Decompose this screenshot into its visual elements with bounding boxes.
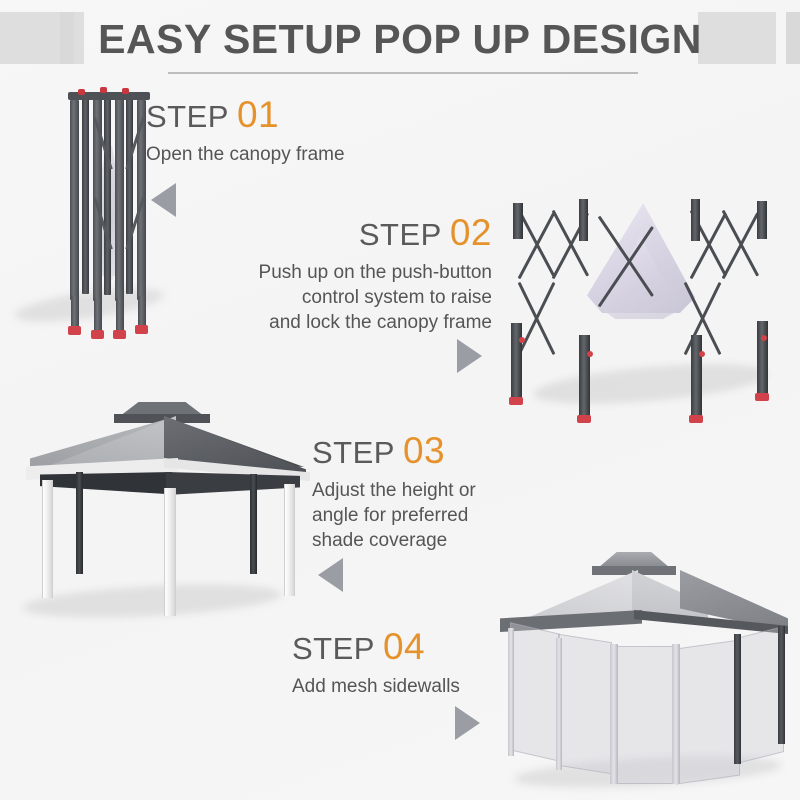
step-03-heading: STEP03 [312, 432, 552, 472]
frame-leg [511, 323, 522, 401]
step-03-number: 03 [403, 430, 445, 471]
step-04-heading: STEP04 [292, 628, 542, 668]
mesh-sidewall-panel [676, 640, 740, 785]
frame-pole [126, 96, 133, 294]
step-03-description: Adjust the height or angle for preferred… [312, 478, 552, 553]
page-title-container: EASY SETUP POP UP DESIGN [0, 16, 800, 62]
frame-hub [513, 203, 523, 239]
gazebo-leg-back-right [250, 474, 257, 574]
step-04-arrow-right-icon [455, 706, 480, 740]
title-underline [168, 72, 638, 74]
step-04-number: 04 [383, 626, 425, 667]
frame-leg [579, 335, 590, 420]
frame-hub [579, 199, 588, 241]
gazebo-post [556, 638, 562, 770]
canopy-underside-right [166, 472, 300, 504]
frame-pole [104, 95, 111, 295]
mesh-sidewall-panel [558, 634, 612, 775]
step-02-shadow [532, 357, 770, 411]
frame-foot [135, 325, 148, 334]
step-02-number: 02 [450, 212, 492, 253]
step-02-label: STEP [359, 217, 442, 252]
frame-foot [577, 415, 591, 423]
canopy-underside-left [40, 472, 172, 504]
step-03-shadow [21, 579, 282, 623]
step-01-label: STEP [146, 99, 229, 134]
step-02-description-line-2: control system to raise [210, 285, 492, 310]
frame-foot [755, 393, 769, 401]
step-04-description: Add mesh sidewalls [292, 674, 542, 699]
gazebo-leg-front-left [42, 480, 53, 598]
frame-top-cap [78, 89, 85, 95]
frame-foot [113, 330, 126, 339]
gazebo-post-dark [734, 634, 741, 764]
frame-leg [94, 298, 102, 334]
frame-top-cap [122, 88, 129, 94]
push-button [761, 335, 767, 341]
step-04-text: STEP04 Add mesh sidewalls [292, 628, 542, 699]
step-01-number: 01 [237, 94, 279, 135]
step-02-description-line-3: and lock the canopy frame [210, 310, 492, 335]
step-02-description-line-1: Push up on the push-button [210, 260, 492, 285]
step-01-arrow-left-icon [151, 183, 176, 217]
gazebo-leg-front-right [284, 484, 295, 596]
push-button [519, 337, 525, 343]
gazebo-post-dark [778, 626, 785, 744]
push-button [699, 351, 705, 357]
frame-leg [691, 335, 702, 420]
frame-foot [689, 415, 703, 423]
step-04-label: STEP [292, 631, 375, 666]
step-03-image [14, 400, 314, 625]
step-02-heading: STEP02 [210, 214, 492, 254]
frame-pole [115, 97, 124, 301]
step-03-description-line-2: angle for preferred [312, 503, 552, 528]
frame-hub [691, 199, 700, 241]
step-03-arrow-left-icon [318, 558, 343, 592]
gazebo-leg-back-left [76, 472, 83, 574]
frame-pole [82, 98, 89, 294]
step-02-description: Push up on the push-button control syste… [210, 260, 492, 335]
frame-top-cap [100, 87, 107, 93]
step-03-description-line-3: shade coverage [312, 528, 552, 553]
frame-leg [757, 321, 768, 397]
gazebo-post [610, 644, 618, 784]
step-02-text: STEP02 Push up on the push-button contro… [210, 214, 492, 335]
frame-pole [70, 100, 79, 300]
mesh-sidewall-panel [612, 646, 678, 784]
frame-hub [757, 201, 767, 239]
step-03-text: STEP03 Adjust the height or angle for pr… [312, 432, 552, 553]
frame-leg [71, 296, 79, 330]
step-01-heading: STEP01 [146, 96, 345, 136]
step-01-text: STEP01 Open the canopy frame [146, 96, 345, 167]
frame-foot [91, 330, 104, 339]
gazebo-leg-front-center [164, 488, 176, 616]
mesh-sidewall-panel [736, 626, 784, 764]
push-button [587, 351, 593, 357]
infographic-page: EASY SETUP POP UP DESIGN [0, 0, 800, 800]
gazebo-post [672, 644, 680, 784]
step-01-description: Open the canopy frame [146, 142, 345, 167]
step-02-image [495, 175, 791, 420]
step-02-arrow-right-icon [457, 339, 482, 373]
step-03-description-line-1: Adjust the height or [312, 478, 552, 503]
page-title: EASY SETUP POP UP DESIGN [0, 16, 800, 62]
step-03-label: STEP [312, 435, 395, 470]
frame-leg [116, 298, 124, 334]
frame-foot [68, 326, 81, 335]
frame-foot [509, 397, 523, 405]
